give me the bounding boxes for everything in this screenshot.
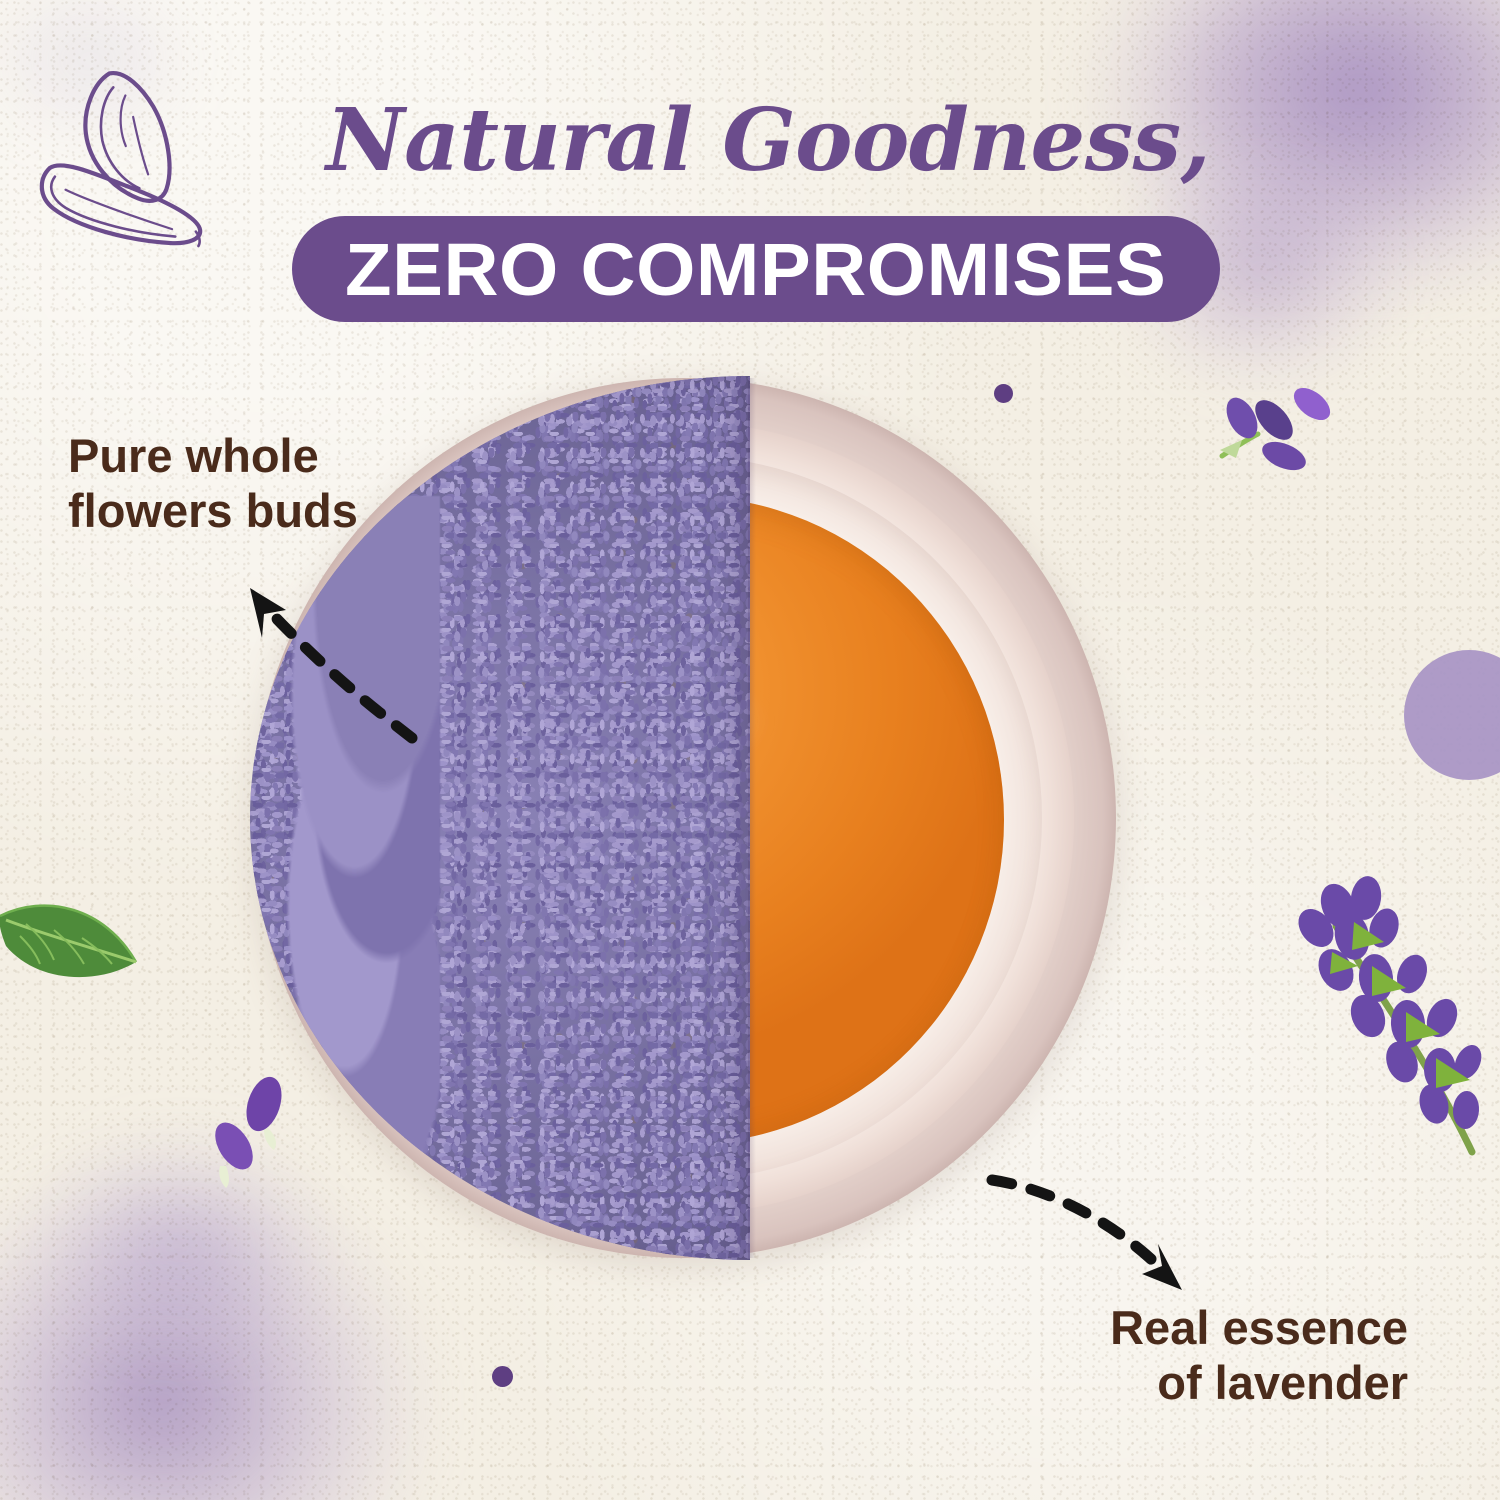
green-leaf-icon (0, 890, 156, 1020)
product-image-split-cup (252, 378, 1116, 1258)
poster-canvas: Natural Goodness, ZERO COMPROMISES Pure … (0, 0, 1500, 1500)
lavender-buds-spill-edge (250, 496, 440, 1156)
annotation-right: Real essence of lavender (1110, 1300, 1408, 1411)
page-title: Natural Goodness, (288, 98, 1248, 184)
annotation-right-line1: Real essence (1110, 1300, 1408, 1355)
lavender-petals-line-art-icon (28, 48, 258, 258)
lavender-circle-accent (1404, 650, 1500, 780)
lavender-buds-cluster-icon (1216, 378, 1356, 488)
annotation-left: Pure whole flowers buds (68, 428, 358, 539)
status-badge: ZERO COMPROMISES (292, 216, 1220, 322)
lavender-sprig-icon (1276, 866, 1500, 1156)
badge-label: ZERO COMPROMISES (345, 227, 1166, 312)
annotation-right-line2: of lavender (1110, 1355, 1408, 1410)
split-divider (748, 378, 756, 1258)
watercolor-wash-top-left (0, 0, 240, 180)
annotation-left-line1: Pure whole (68, 428, 358, 483)
purple-dot-accent-bottom (492, 1366, 513, 1387)
annotation-left-line2: flowers buds (68, 483, 358, 538)
